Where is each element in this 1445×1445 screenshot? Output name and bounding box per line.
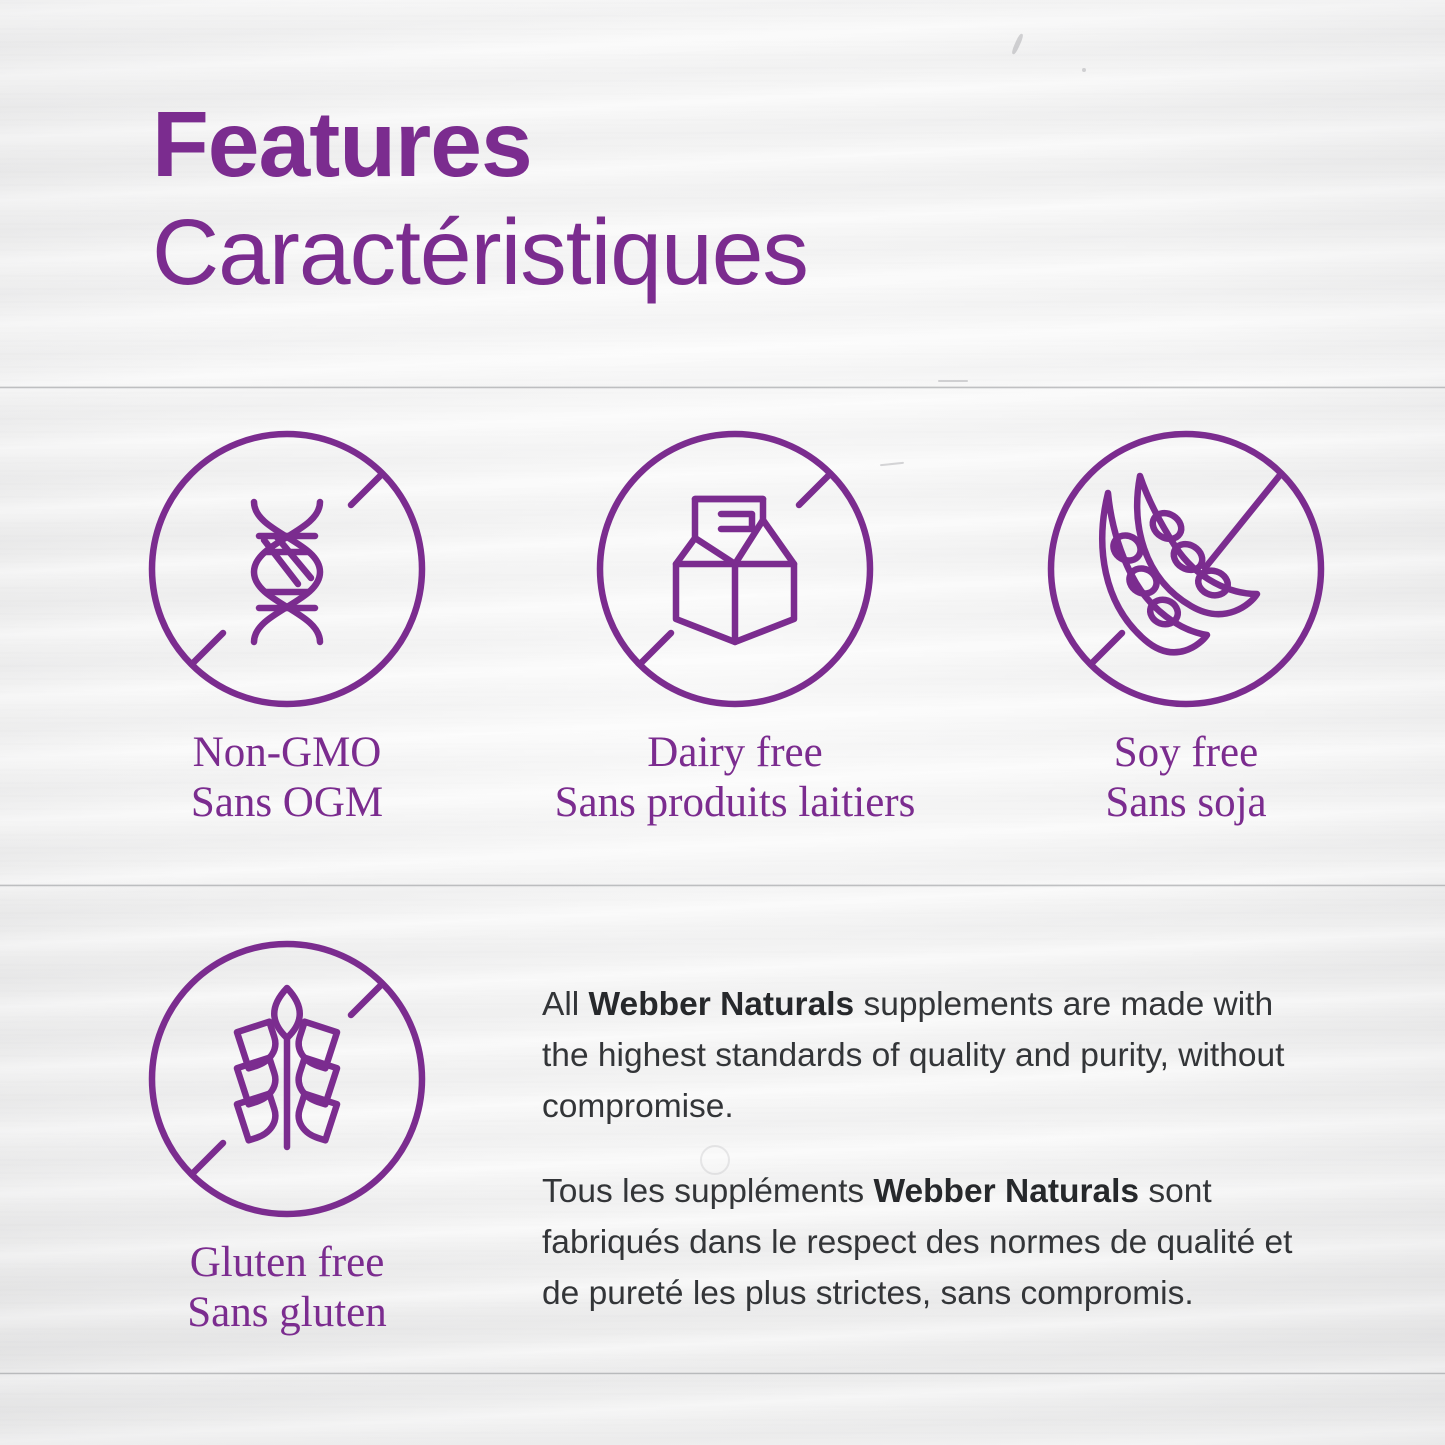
feature-gluten-free: Gluten free Sans gluten	[12, 938, 562, 1338]
slash-upper	[351, 985, 381, 1015]
paragraph-en-lead: All	[542, 986, 589, 1023]
feature-labels: Gluten free Sans gluten	[12, 1238, 562, 1338]
brand-name-en: Webber Naturals	[589, 986, 855, 1023]
brand-copy: All Webber Naturals supplements are made…	[542, 980, 1314, 1319]
feature-label-fr: Sans soja	[911, 778, 1445, 828]
no-dna-icon	[146, 428, 428, 710]
page-title: Features Caractéristiques	[152, 96, 808, 304]
slash-lower	[193, 633, 223, 663]
no-milk-carton-icon	[594, 428, 876, 710]
paragraph-en: All Webber Naturals supplements are made…	[542, 980, 1314, 1133]
feature-soy-free: Soy free Sans soja	[911, 428, 1445, 828]
slash-lower	[641, 633, 671, 663]
slash-upper	[1205, 475, 1280, 568]
brand-name-fr: Webber Naturals	[873, 1173, 1139, 1210]
feature-panel: Features Caractéristiques	[0, 0, 1445, 1445]
page-title-fr: Caractéristiques	[152, 200, 808, 304]
paragraph-fr-lead: Tous les suppléments	[542, 1173, 873, 1210]
slash-upper	[351, 475, 381, 505]
no-soybean-pods-icon	[1045, 428, 1327, 710]
slash-lower	[1092, 633, 1122, 663]
slash-lower	[193, 1143, 223, 1173]
slash-upper	[799, 475, 829, 505]
feature-label-fr: Sans gluten	[12, 1288, 562, 1338]
feature-label-en: Gluten free	[12, 1238, 562, 1288]
no-wheat-stalk-icon	[146, 938, 428, 1220]
feature-label-en: Soy free	[911, 728, 1445, 778]
paragraph-fr: Tous les suppléments Webber Naturals son…	[542, 1167, 1314, 1320]
page-title-en: Features	[152, 96, 808, 194]
feature-labels: Soy free Sans soja	[911, 728, 1445, 828]
